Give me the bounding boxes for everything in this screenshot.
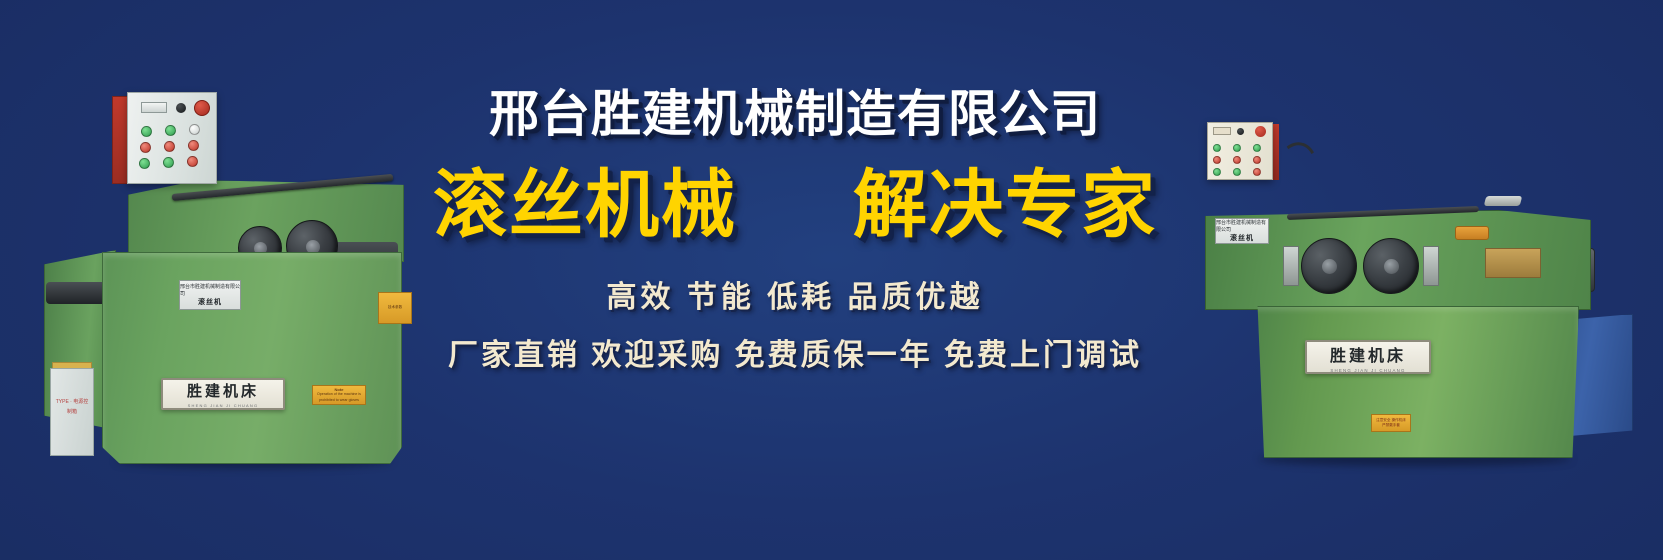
machine-left-selector-knob xyxy=(176,103,186,113)
machine-right-roller-hub-1 xyxy=(1322,259,1337,274)
machine-right-warning-text: 注意安全 操作机床严禁戴手套 xyxy=(1375,418,1407,428)
machine-right-jaw-right xyxy=(1423,246,1439,286)
machine-right-valve-block xyxy=(1455,226,1489,240)
machine-left-brand-badge: 胜建机床 SHENG JIAN JI CHUANG xyxy=(161,378,285,410)
machine-left-nameplate: 邢台市胜建机械制造有限公司 滚丝机 xyxy=(179,280,241,310)
machine-right-button-7 xyxy=(1213,168,1221,176)
machine-left-warning-label: Note Operation of the machine is prohibi… xyxy=(312,385,366,405)
machine-left-emergency-stop-button xyxy=(194,100,210,116)
machine-right-brand-name: 胜建机床 xyxy=(1330,342,1406,366)
machine-left-button-4 xyxy=(140,142,151,153)
machine-image-right: 邢台市胜建机械制造有限公司 滚丝机 胜建机床 SHENG JIAN JI CHU… xyxy=(1155,118,1655,468)
company-name: 邢台胜建机械制造有限公司 xyxy=(380,86,1210,142)
machine-left-nameplate-model: 滚丝机 xyxy=(198,297,222,307)
machine-left-brand-pinyin: SHENG JIAN JI CHUANG xyxy=(188,403,259,408)
machine-right-button-6 xyxy=(1253,156,1261,164)
machine-left-button-7 xyxy=(139,158,150,169)
headline-left: 滚丝机械 xyxy=(433,168,737,242)
machine-left-cabinet-label: TYPE · 电源控制箱 xyxy=(54,398,90,417)
machine-right-warning-label: 注意安全 操作机床严禁戴手套 xyxy=(1371,414,1411,432)
machine-left-brand-name: 胜建机床 xyxy=(187,380,259,401)
machine-right-nameplate-model: 滚丝机 xyxy=(1230,233,1254,243)
machine-right-button-2 xyxy=(1233,144,1241,152)
machine-right-button-9 xyxy=(1253,168,1261,176)
machine-right-button-4 xyxy=(1213,156,1221,164)
machine-right-emergency-stop-button xyxy=(1255,126,1266,137)
machine-right-nameplate-company: 邢台市胜建机械制造有限公司 xyxy=(1216,219,1268,233)
machine-right-brand-badge: 胜建机床 SHENG JIAN JI CHUANG xyxy=(1305,340,1431,374)
machine-right-button-8 xyxy=(1233,168,1241,176)
machine-left-button-5 xyxy=(164,141,175,152)
machine-right-handwheel xyxy=(1484,196,1522,206)
machine-left-button-3 xyxy=(189,124,200,135)
service-line: 厂家直销 欢迎采购 免费质保一年 免费上门调试 xyxy=(380,330,1210,374)
machine-left-button-6 xyxy=(188,140,199,151)
machine-right-button-3 xyxy=(1253,144,1261,152)
machine-left-button-2 xyxy=(165,125,176,136)
machine-left-counter-display xyxy=(141,102,167,113)
machine-right-counter-display xyxy=(1213,127,1231,135)
machine-left-roller-hub-2 xyxy=(306,240,320,254)
machine-left-button-1 xyxy=(141,126,152,137)
machine-right-brand-pinyin: SHENG JIAN JI CHUANG xyxy=(1330,368,1405,373)
machine-left-nameplate-company: 邢台市胜建机械制造有限公司 xyxy=(180,283,240,297)
machine-right-nameplate: 邢台市胜建机械制造有限公司 滚丝机 xyxy=(1215,218,1269,244)
machine-left-warning-text: Operation of the machine is prohibited t… xyxy=(316,392,362,402)
banner-text-block: 邢台胜建机械制造有限公司 滚丝机械 解决专家 高效 节能 低耗 品质优越 厂家直… xyxy=(380,86,1210,374)
headline-row: 滚丝机械 解决专家 xyxy=(380,168,1210,242)
machine-left-body xyxy=(102,252,402,464)
machine-right-brass-plate xyxy=(1485,248,1541,278)
machine-right-selector-knob xyxy=(1237,128,1244,135)
machine-right-roller-hub-2 xyxy=(1384,259,1399,274)
machine-right-body xyxy=(1251,306,1579,458)
headline-right: 解决专家 xyxy=(853,168,1157,242)
promo-banner: 邢台市胜建机械制造有限公司 滚丝机 技术参数 胜建机床 SHENG JIAN J… xyxy=(0,0,1663,560)
machine-right-jaw-left xyxy=(1283,246,1299,286)
machine-left-button-8 xyxy=(163,157,174,168)
machine-left-button-9 xyxy=(187,156,198,167)
features-line: 高效 节能 低耗 品质优越 xyxy=(380,272,1210,316)
machine-right-button-5 xyxy=(1233,156,1241,164)
machine-right-button-1 xyxy=(1213,144,1221,152)
